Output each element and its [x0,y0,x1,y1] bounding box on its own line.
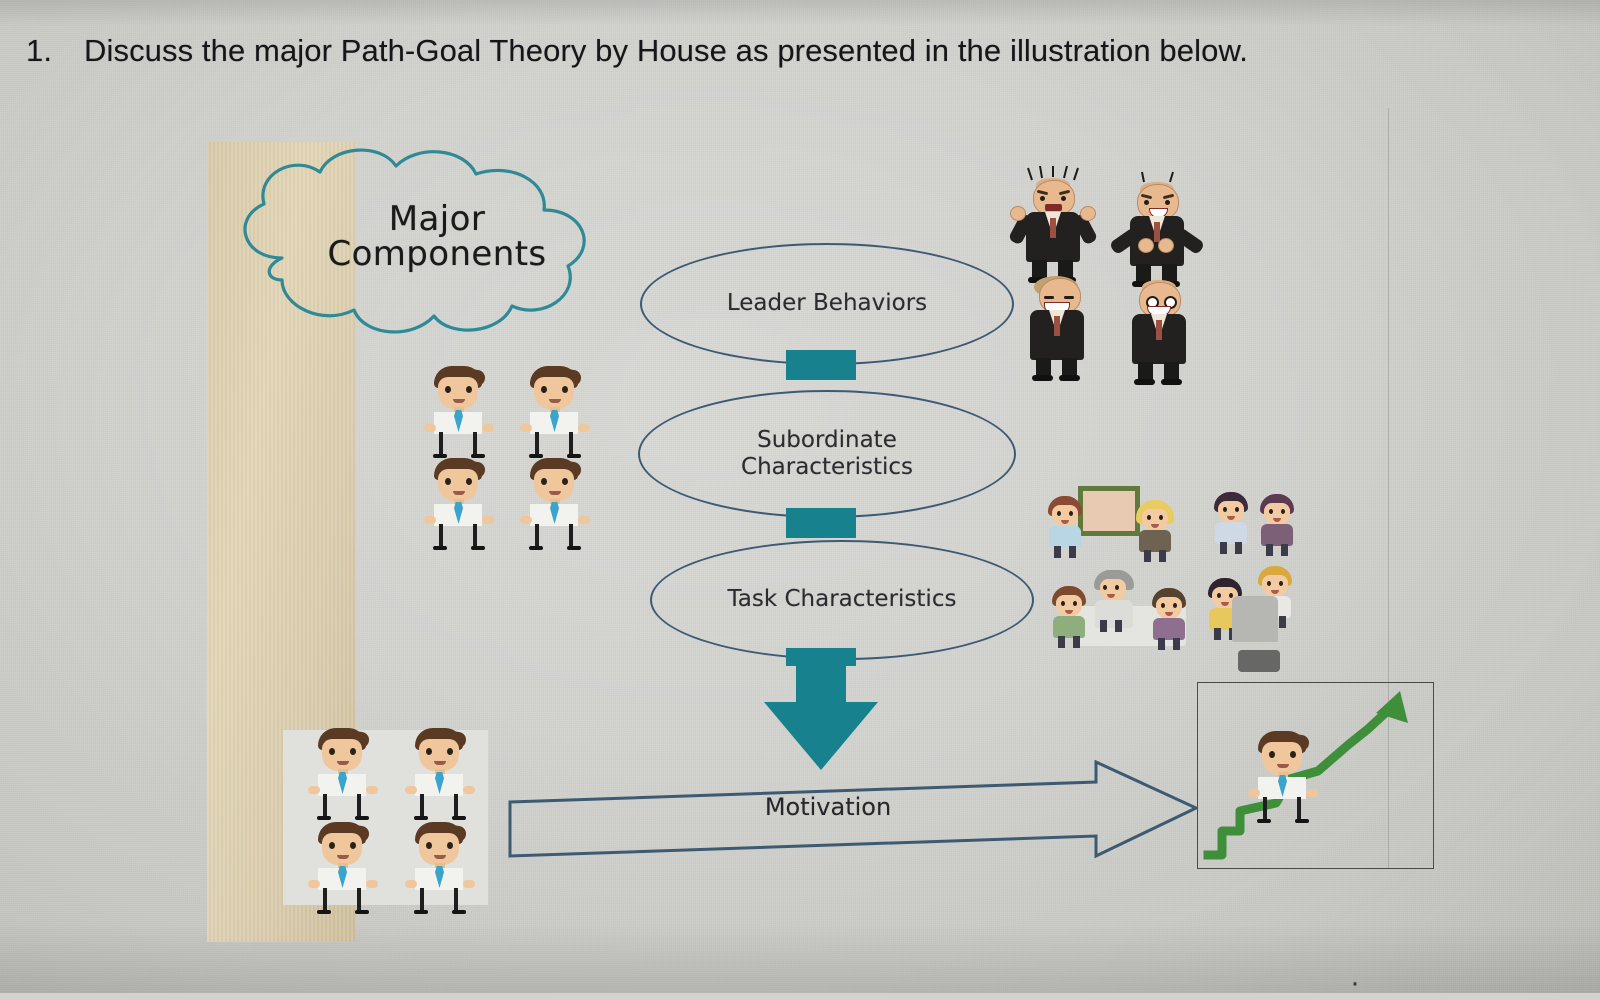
node-task-characteristics: Task Characteristics [650,540,1034,660]
motivation-arrow-label: Motivation [508,793,1148,821]
connector-subordinate-to-task [786,508,856,538]
worker-figure [1132,500,1178,562]
footer-partial-text: · [1350,966,1361,1000]
worker-figure [1146,588,1192,650]
growth-chart [1197,682,1434,869]
worker-figure [1046,586,1092,648]
climbing-employee-figure [1250,731,1312,809]
cloud-label: Major Components [272,202,602,271]
boss-figure-angry-shouting [1016,178,1090,284]
cloud-label-line2: Components [272,237,602,272]
boss-figure-laughing [1020,276,1094,382]
subordinates-group-upper [424,366,604,538]
cloud-label-line1: Major [272,202,602,237]
subordinate-figure [522,366,588,458]
angry-bosses-group [1012,172,1202,368]
node-leader-behaviors-label: Leader Behaviors [727,290,927,317]
subordinate-figure [426,366,492,458]
boss-figure-surprised [1122,280,1196,386]
equipment-box [1232,596,1278,642]
worker-figure [1254,494,1300,556]
office-task-scenes [1036,478,1306,658]
dark-smudge [1238,650,1280,672]
top-shadow [0,0,1600,26]
sub-label-line1: Subordinate [757,427,897,453]
worker-figure [1042,496,1088,558]
connector-leader-to-subordinate [786,350,856,380]
worker-figure [1208,492,1254,554]
node-subordinate-characteristics-label: Subordinate Characteristics [741,427,913,481]
node-task-characteristics-label: Task Characteristics [728,586,957,613]
subordinate-figure [310,728,376,820]
subordinate-figure [310,822,376,914]
question-heading: 1.Discuss the major Path-Goal Theory by … [26,33,1571,69]
sub-label-line2: Characteristics [741,454,913,480]
boss-figure-smirking [1120,182,1194,288]
node-subordinate-characteristics: Subordinate Characteristics [638,390,1016,518]
manager-figure [1088,570,1142,642]
growth-arrow-icon [1198,683,1433,868]
subordinates-group-lower [302,728,492,910]
question-number: 1. [26,33,84,69]
major-components-cloud: Major Components [212,140,642,350]
subordinate-figure [407,822,473,914]
question-text: Discuss the major Path-Goal Theory by Ho… [84,33,1248,68]
subordinate-figure [426,458,492,550]
subordinate-figure [522,458,588,550]
node-leader-behaviors: Leader Behaviors [640,243,1014,365]
subordinate-figure [407,728,473,820]
